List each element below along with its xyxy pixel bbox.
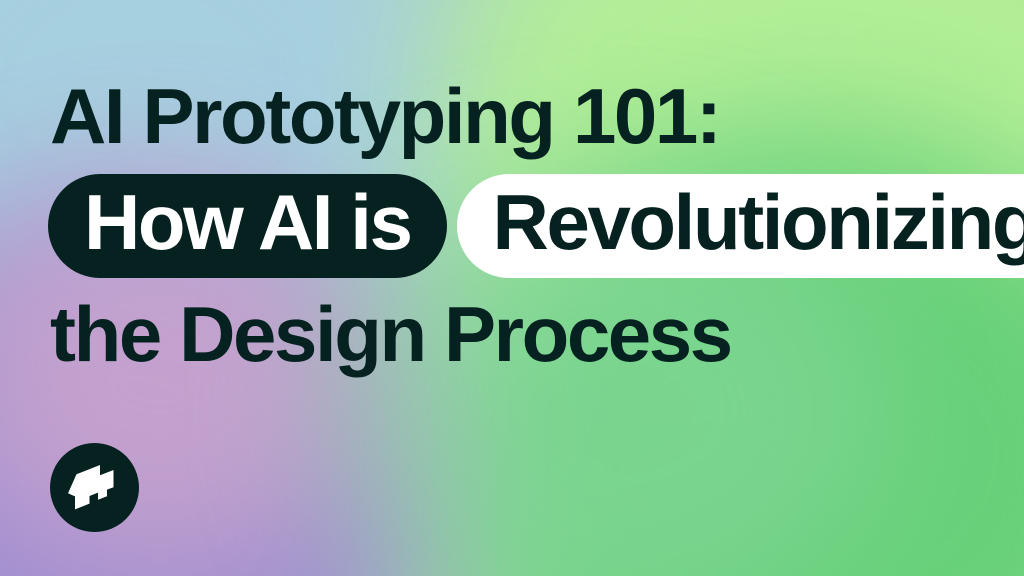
headline-pill-light-text: Revolutionizing xyxy=(493,183,1024,261)
brand-logo xyxy=(50,443,139,532)
card-content: AI Prototyping 101: How AI is Revolution… xyxy=(0,0,1024,576)
headline-line-1-text: AI Prototyping 101: xyxy=(50,72,719,160)
headline-pill-light: Revolutionizing xyxy=(457,174,1024,278)
headline-line-3: the Design Process xyxy=(50,292,998,376)
zigzag-flag-icon xyxy=(66,462,124,514)
headline-line-3-text: the Design Process xyxy=(50,290,731,378)
title-card: AI Prototyping 101: How AI is Revolution… xyxy=(0,0,1024,576)
headline-line-2: How AI is Revolutionizing xyxy=(48,174,998,278)
headline-pill-dark-text: How AI is xyxy=(84,183,411,261)
headline-pill-dark: How AI is xyxy=(48,174,447,278)
headline: AI Prototyping 101: How AI is Revolution… xyxy=(48,74,998,376)
headline-line-1: AI Prototyping 101: xyxy=(50,74,998,158)
